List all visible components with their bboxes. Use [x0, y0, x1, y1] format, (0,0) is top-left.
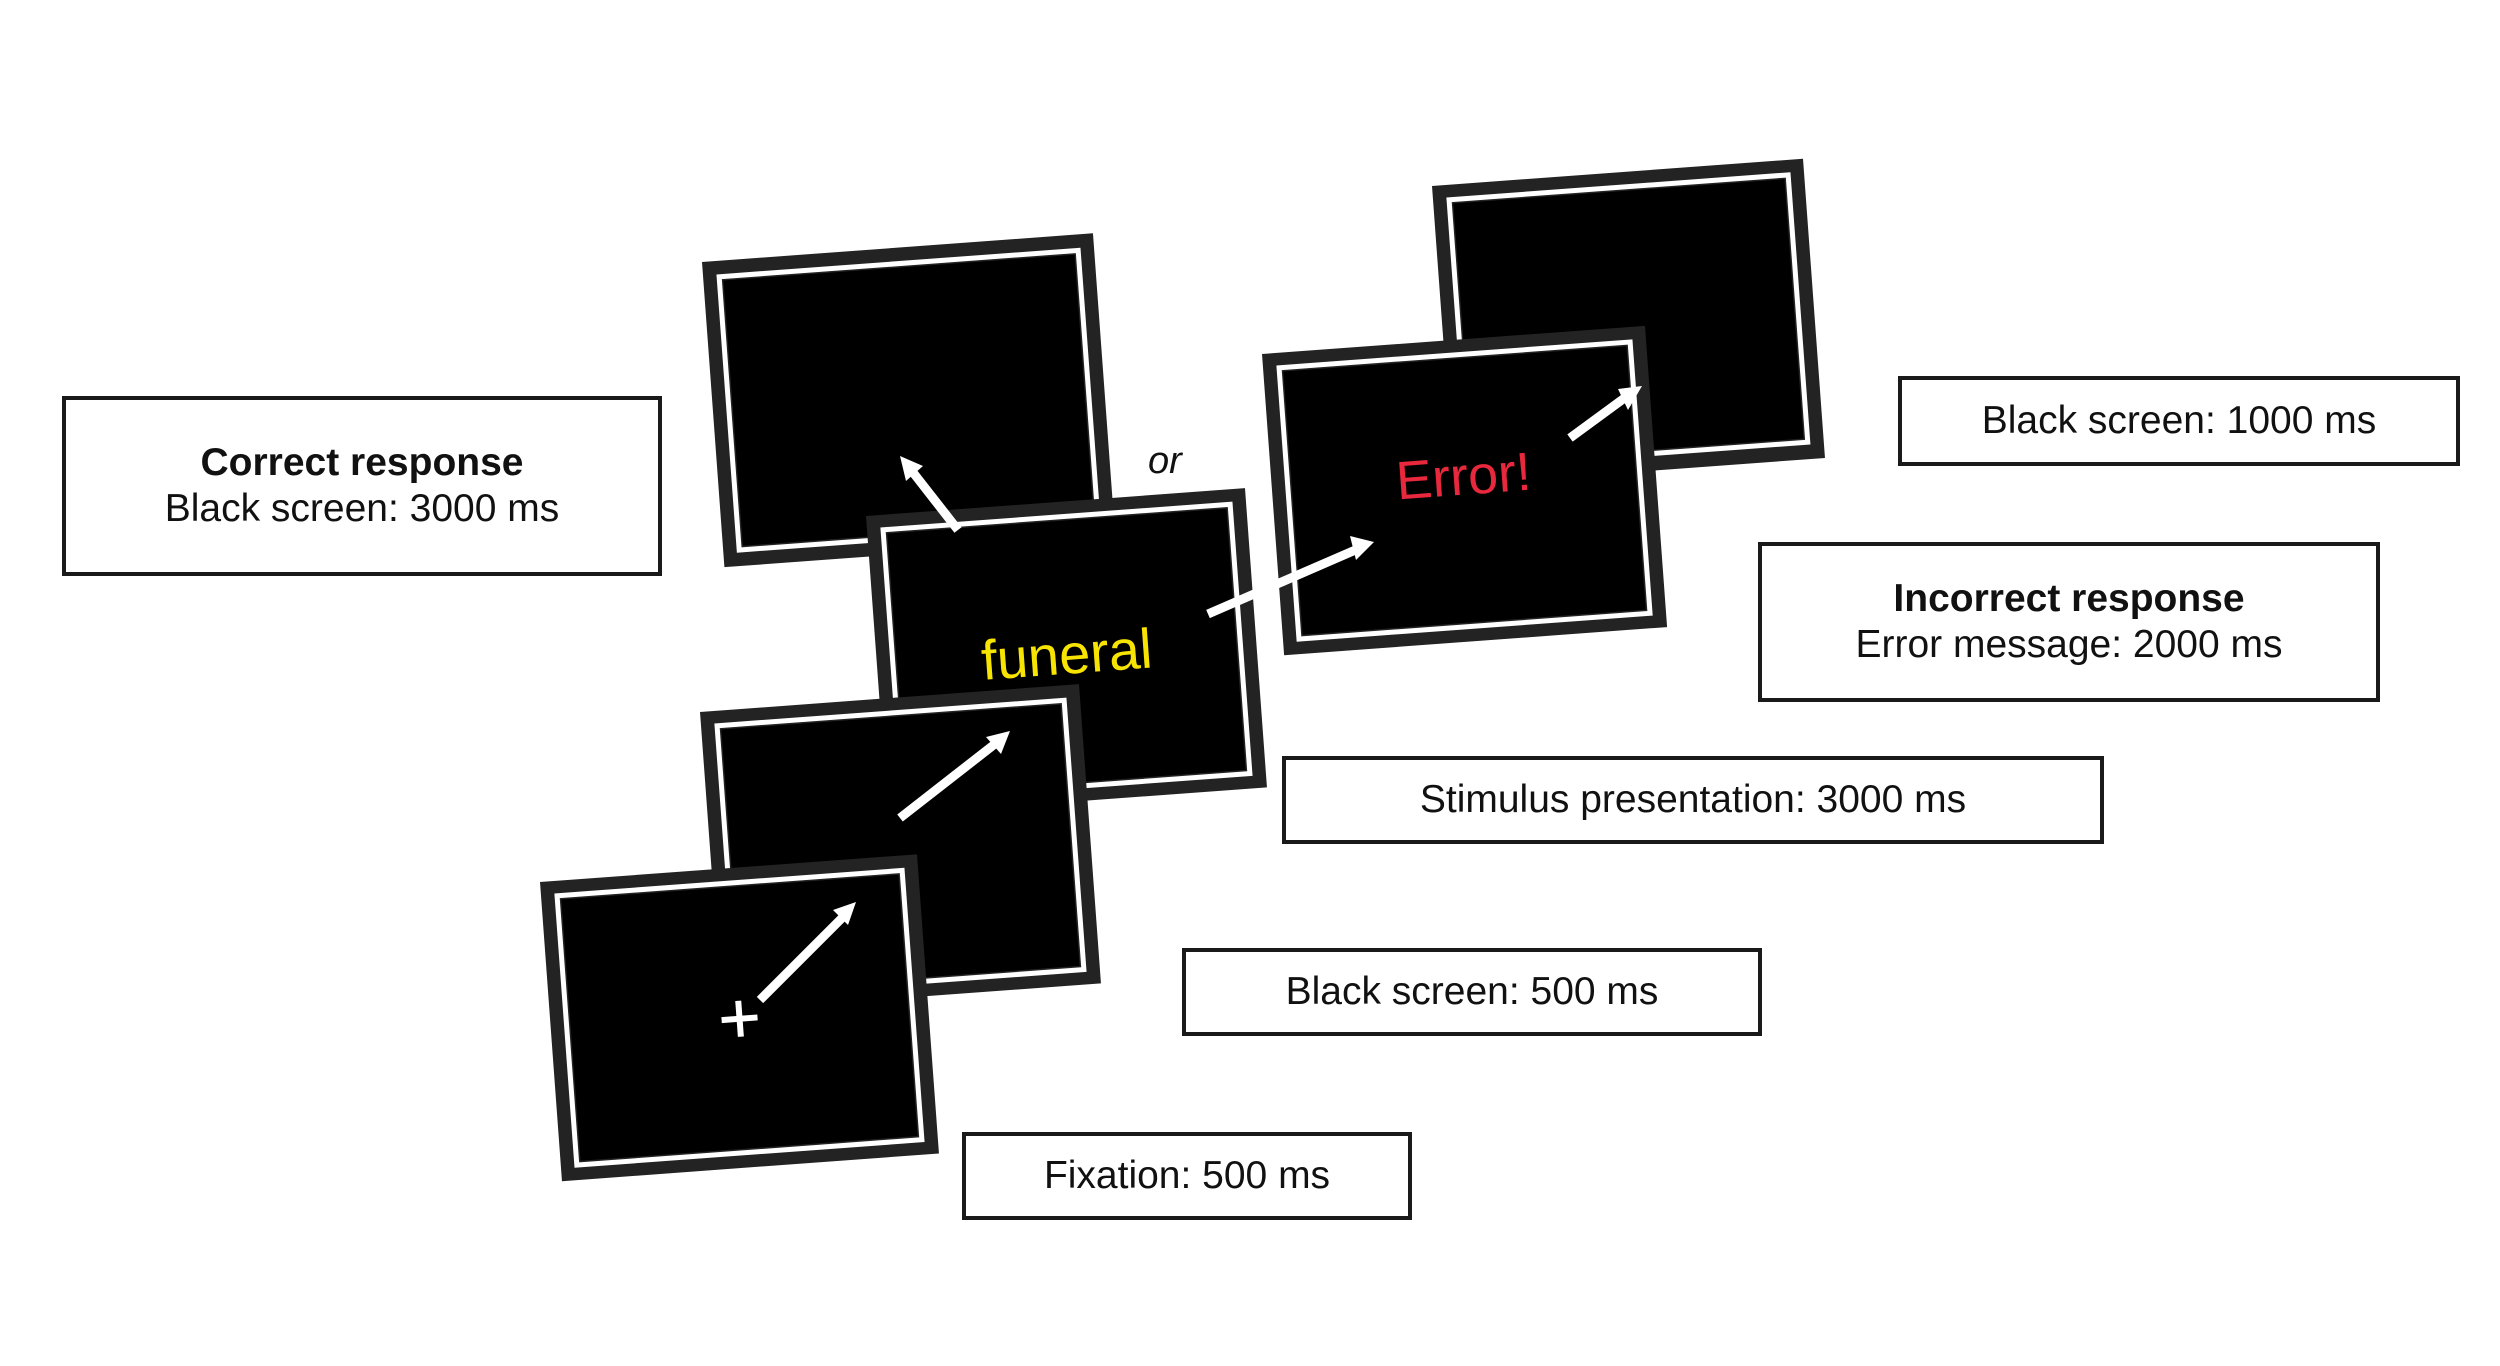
figure-canvas: Error! funeral	[0, 0, 2500, 1366]
label-incorrect-response: Incorrect response Error message: 2000 m…	[1758, 542, 2380, 702]
label-correct-response-detail: Black screen: 3000 ms	[165, 486, 560, 532]
label-correct-response: Correct response Black screen: 3000 ms	[62, 396, 662, 576]
label-pre-stimulus-black-screen-detail: Black screen: 500 ms	[1286, 969, 1659, 1015]
or-connector-label: or	[1148, 440, 1182, 483]
label-correct-response-title: Correct response	[201, 440, 524, 486]
label-post-error-black-screen-detail: Black screen: 1000 ms	[1982, 398, 2377, 444]
error-message-text: Error!	[1394, 442, 1533, 512]
error-feedback-screen: Error!	[1262, 326, 1667, 655]
word-stimulus-text: funeral	[979, 616, 1154, 691]
label-fixation: Fixation: 500 ms	[962, 1132, 1412, 1220]
screen-surface	[723, 255, 1094, 546]
label-stimulus-presentation-detail: Stimulus presentation: 3000 ms	[1420, 777, 1966, 823]
fixation-screen	[540, 854, 939, 1181]
label-incorrect-response-title: Incorrect response	[1893, 576, 2244, 622]
label-pre-stimulus-black-screen: Black screen: 500 ms	[1182, 948, 1762, 1036]
label-post-error-black-screen: Black screen: 1000 ms	[1898, 376, 2460, 466]
label-fixation-detail: Fixation: 500 ms	[1044, 1153, 1330, 1199]
label-incorrect-response-detail: Error message: 2000 ms	[1855, 622, 2282, 668]
label-stimulus-presentation: Stimulus presentation: 3000 ms	[1282, 756, 2104, 844]
